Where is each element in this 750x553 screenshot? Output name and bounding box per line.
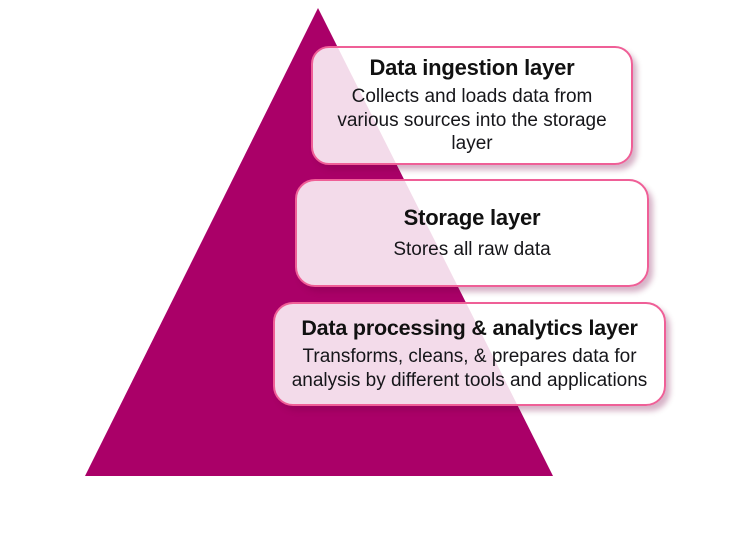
diagram-canvas: Data ingestion layer Collects and loads … bbox=[0, 0, 750, 553]
layer-description: Collects and loads data from various sou… bbox=[327, 85, 617, 156]
layer-box-ingestion[interactable]: Data ingestion layer Collects and loads … bbox=[311, 46, 633, 165]
layer-description: Transforms, cleans, & prepares data for … bbox=[289, 345, 650, 392]
layer-title: Storage layer bbox=[404, 205, 541, 231]
layer-title: Data ingestion layer bbox=[369, 55, 574, 81]
layer-box-storage[interactable]: Storage layer Stores all raw data bbox=[295, 179, 649, 287]
layer-title: Data processing & analytics layer bbox=[301, 316, 637, 342]
layer-description: Stores all raw data bbox=[393, 238, 550, 262]
layer-box-processing[interactable]: Data processing & analytics layer Transf… bbox=[273, 302, 666, 406]
